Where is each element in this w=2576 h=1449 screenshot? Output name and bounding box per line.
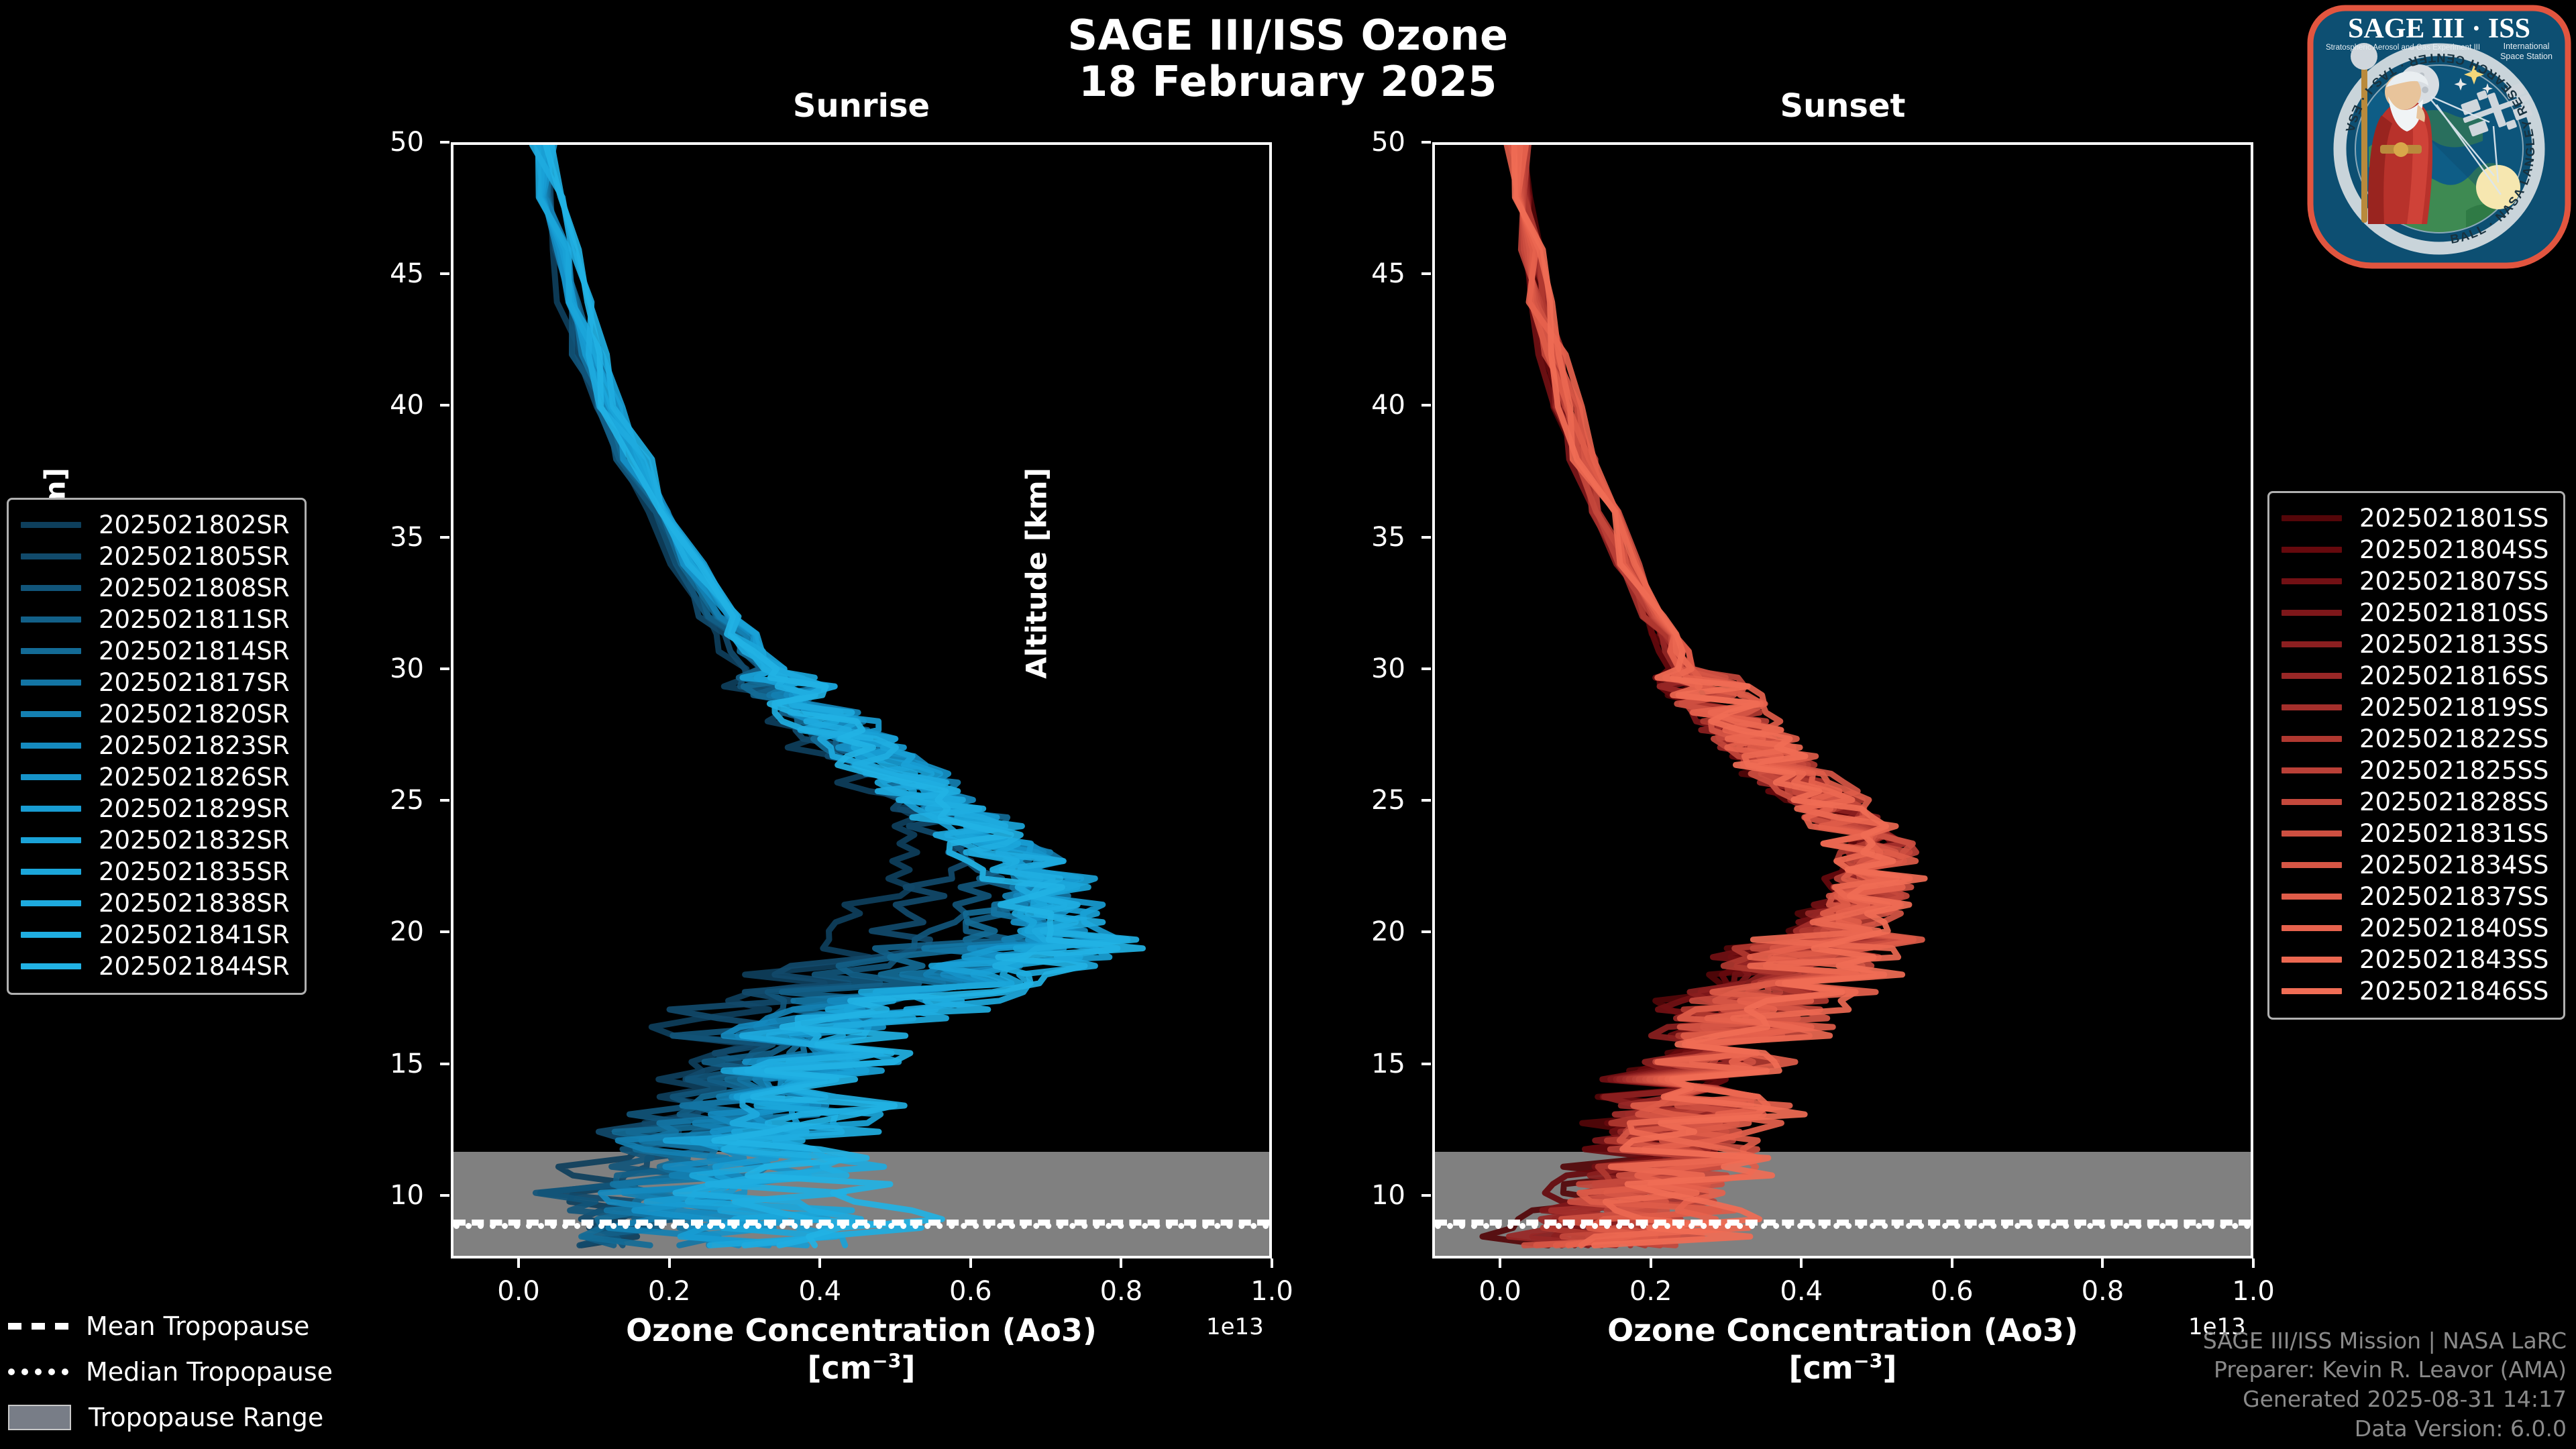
line-swatch-icon [2282, 578, 2342, 584]
legend-sunrise-label: 2025021838SR [99, 889, 290, 918]
legend-item-tropopause-range[interactable]: Tropopause Range [8, 1403, 333, 1432]
legend-item-median-tropopause[interactable]: Median Tropopause [8, 1357, 333, 1387]
line-swatch-icon [2282, 925, 2342, 931]
legend-sunrise-item[interactable]: 2025021832SR [21, 824, 290, 856]
line-swatch-icon [2282, 704, 2342, 710]
plot-sunrise [451, 142, 1272, 1258]
y-tick-label: 10 [343, 1180, 424, 1211]
logo-subtitle-left: Stratospheric Aerosol and Gas Experiment… [2326, 44, 2480, 52]
y-tick-mark [440, 141, 449, 144]
y-tick-mark [440, 667, 449, 670]
legend-sunset-label: 2025021810SS [2359, 598, 2548, 627]
x-tick-mark [1650, 1258, 1652, 1268]
logo-title: SAGE III · ISS [2348, 13, 2530, 44]
legend-sunset-item[interactable]: 2025021822SS [2282, 723, 2548, 755]
legend-sunset-label: 2025021837SS [2359, 882, 2548, 911]
legend-label-median-tropopause: Median Tropopause [86, 1357, 333, 1387]
x-tick-label: 0.2 [623, 1276, 716, 1307]
line-swatch-icon [21, 585, 81, 591]
line-swatch-icon [21, 680, 81, 686]
median-tropopause-line-left [453, 1223, 1269, 1229]
x-axis-label-sunrise: Ozone Concentration (Ao3) [cm−3] [451, 1311, 1272, 1387]
y-tick-label: 30 [1325, 653, 1405, 684]
x-tick-label: 0.4 [1754, 1276, 1848, 1307]
x-tick-mark [1800, 1258, 1803, 1268]
line-swatch-icon [2282, 673, 2342, 679]
x-tick-mark [1271, 1258, 1273, 1268]
logo-subtitle-right-2: Space Station [2500, 52, 2553, 61]
x-tick-label: 0.0 [472, 1276, 566, 1307]
legend-sunrise-label: 2025021811SR [99, 605, 290, 634]
credits-generated: Generated 2025-08-31 14:17 [2203, 1385, 2567, 1414]
legend-sunset-item[interactable]: 2025021819SS [2282, 692, 2548, 723]
legend-sunset-label: 2025021840SS [2359, 914, 2548, 943]
legend-sunset-item[interactable]: 2025021810SS [2282, 597, 2548, 629]
x-axis-label-line2: [cm−3] [1432, 1349, 2253, 1387]
line-swatch-icon [2282, 736, 2342, 742]
legend-sunset-item[interactable]: 2025021813SS [2282, 629, 2548, 660]
y-tick-label: 45 [343, 258, 424, 289]
legend-sunrise-label: 2025021841SR [99, 920, 290, 949]
x-tick-label: 0.2 [1604, 1276, 1698, 1307]
line-swatch-icon [21, 932, 81, 938]
y-tick-mark [440, 404, 449, 407]
legend-sunrise-item[interactable]: 2025021835SR [21, 856, 290, 888]
line-swatch-icon [21, 869, 81, 875]
legend-sunrise-label: 2025021802SR [99, 511, 290, 539]
y-axis-label-sunset: Altitude [km] [1020, 439, 1053, 708]
legend-sunrise-label: 2025021808SR [99, 574, 290, 602]
legend-sunset-label: 2025021816SS [2359, 661, 2548, 690]
legend-sunrise-item[interactable]: 2025021838SR [21, 888, 290, 919]
legend-sunrise-item[interactable]: 2025021802SR [21, 509, 290, 541]
legend-label-mean-tropopause: Mean Tropopause [86, 1311, 309, 1341]
line-swatch-icon [2282, 830, 2342, 837]
line-swatch-icon [21, 711, 81, 717]
line-swatch-icon [2282, 515, 2342, 521]
line-swatch-icon [21, 522, 81, 528]
y-tick-mark [440, 1063, 449, 1065]
y-tick-mark [1421, 930, 1431, 933]
x-axis-label-line1: Ozone Concentration (Ao3) [1432, 1311, 2253, 1349]
x-axis-label-line2: [cm−3] [451, 1349, 1272, 1387]
legend-sunrise-item[interactable]: 2025021811SR [21, 604, 290, 635]
legend-sunset-item[interactable]: 2025021846SS [2282, 975, 2548, 1007]
y-tick-mark [1421, 141, 1431, 144]
legend-sunset-label: 2025021801SS [2359, 504, 2548, 533]
legend-sunset-label: 2025021846SS [2359, 977, 2548, 1006]
panel-title-sunrise: Sunrise [451, 87, 1272, 125]
filled-patch-icon [8, 1405, 71, 1430]
dashed-line-icon [8, 1323, 68, 1330]
y-tick-mark [1421, 272, 1431, 275]
y-tick-label: 45 [1325, 258, 1405, 289]
y-tick-mark [1421, 799, 1431, 802]
x-tick-label: 1.0 [1225, 1276, 1319, 1307]
line-swatch-icon [21, 648, 81, 654]
y-tick-mark [440, 799, 449, 802]
legend-sunset-item[interactable]: 2025021834SS [2282, 849, 2548, 881]
legend-sunrise-item[interactable]: 2025021805SR [21, 541, 290, 572]
legend-sunrise-label: 2025021823SR [99, 731, 290, 760]
x-tick-label: 0.8 [2055, 1276, 2149, 1307]
x-axis-label-sunset: Ozone Concentration (Ao3) [cm−3] [1432, 1311, 2253, 1387]
y-tick-label: 40 [1325, 390, 1405, 421]
legend-sunrise-item[interactable]: 2025021820SR [21, 698, 290, 730]
credits-data-version: Data Version: 6.0.0 [2203, 1414, 2567, 1444]
legend-sunrise-label: 2025021844SR [99, 952, 290, 981]
legend-sunset-label: 2025021834SS [2359, 851, 2548, 879]
line-swatch-icon [2282, 988, 2342, 994]
line-swatch-icon [21, 837, 81, 843]
legend-sunrise-item[interactable]: 2025021814SR [21, 635, 290, 667]
y-tick-label: 25 [343, 785, 424, 816]
legend-sunrise[interactable]: 2025021802SR2025021805SR2025021808SR2025… [7, 498, 307, 995]
line-swatch-icon [2282, 799, 2342, 805]
line-swatch-icon [2282, 862, 2342, 868]
credits-preparer: Preparer: Kevin R. Leavor (AMA) [2203, 1355, 2567, 1385]
legend-sunrise-item[interactable]: 2025021844SR [21, 951, 290, 982]
y-tick-label: 40 [343, 390, 424, 421]
legend-sunrise-label: 2025021820SR [99, 700, 290, 729]
x-tick-mark [818, 1258, 821, 1268]
sage-iii-iss-logo: BALL · NASA LANGLEY RESEARCH CENTER · TA… [2305, 3, 2573, 271]
median-tropopause-line-right [1435, 1223, 2251, 1229]
y-tick-label: 35 [343, 522, 424, 553]
y-tick-mark [1421, 404, 1431, 407]
x-axis-offset-sunrise: 1e13 [1206, 1313, 1264, 1340]
line-swatch-icon [2282, 894, 2342, 900]
legend-label-tropopause-range: Tropopause Range [89, 1403, 323, 1432]
line-swatch-icon [2282, 610, 2342, 616]
dotted-line-icon [8, 1368, 68, 1375]
ozone-profile-line [546, 145, 1143, 1245]
line-swatch-icon [21, 900, 81, 906]
line-swatch-icon [2282, 957, 2342, 963]
ozone-curves-sunset [1435, 145, 2251, 1256]
legend-sunrise-label: 2025021832SR [99, 826, 290, 855]
legend-sunset-label: 2025021819SS [2359, 693, 2548, 722]
x-tick-label: 0.8 [1074, 1276, 1168, 1307]
legend-item-mean-tropopause[interactable]: Mean Tropopause [8, 1311, 333, 1341]
y-tick-mark [1421, 667, 1431, 670]
mission-patch-icon: BALL · NASA LANGLEY RESEARCH CENTER · TA… [2305, 3, 2573, 271]
y-tick-mark [1421, 1194, 1431, 1197]
y-tick-mark [440, 930, 449, 933]
y-tick-label: 25 [1325, 785, 1405, 816]
credits-mission: SAGE III/ISS Mission | NASA LaRC [2203, 1326, 2567, 1356]
x-tick-mark [2252, 1258, 2255, 1268]
title-line-1: SAGE III/ISS Ozone [0, 12, 2576, 58]
credits-block: SAGE III/ISS Mission | NASA LaRC Prepare… [2203, 1326, 2567, 1444]
legend-sunset-item[interactable]: 2025021801SS [2282, 502, 2548, 534]
y-tick-label: 35 [1325, 522, 1405, 553]
line-swatch-icon [21, 774, 81, 780]
y-tick-label: 50 [343, 127, 424, 158]
x-tick-label: 0.6 [1905, 1276, 1999, 1307]
legend-sunset-item[interactable]: 2025021825SS [2282, 755, 2548, 786]
y-tick-label: 15 [343, 1049, 424, 1079]
x-tick-label: 0.4 [773, 1276, 867, 1307]
y-tick-label: 50 [1325, 127, 1405, 158]
legend-sunrise-item[interactable]: 2025021841SR [21, 919, 290, 951]
y-tick-label: 20 [343, 916, 424, 947]
line-swatch-icon [21, 553, 81, 559]
legend-sunset-label: 2025021828SS [2359, 788, 2548, 816]
x-tick-label: 0.0 [1453, 1276, 1547, 1307]
y-tick-mark [440, 1194, 449, 1197]
y-tick-mark [1421, 1063, 1431, 1065]
legend-sunrise-label: 2025021805SR [99, 542, 290, 571]
y-tick-label: 20 [1325, 916, 1405, 947]
legend-sunset-item[interactable]: 2025021807SS [2282, 566, 2548, 597]
x-axis-label-line1: Ozone Concentration (Ao3) [451, 1311, 1272, 1349]
legend-sunrise-item[interactable]: 2025021829SR [21, 793, 290, 824]
legend-sunset-item[interactable]: 2025021831SS [2282, 818, 2548, 849]
legend-sunset-label: 2025021807SS [2359, 567, 2548, 596]
legend-sunset-item[interactable]: 2025021840SS [2282, 912, 2548, 944]
panel-title-sunset: Sunset [1432, 87, 2253, 125]
legend-sunset[interactable]: 2025021801SS2025021804SS2025021807SS2025… [2267, 491, 2565, 1020]
plot-sunset [1432, 142, 2253, 1258]
legend-sunrise-label: 2025021826SR [99, 763, 290, 792]
legend-sunset-label: 2025021825SS [2359, 756, 2548, 785]
legend-sunrise-item[interactable]: 2025021817SR [21, 667, 290, 698]
legend-sunrise-item[interactable]: 2025021808SR [21, 572, 290, 604]
y-tick-mark [440, 536, 449, 539]
ozone-curves-sunrise [453, 145, 1269, 1256]
x-tick-mark [668, 1258, 671, 1268]
line-swatch-icon [2282, 641, 2342, 647]
x-tick-label: 1.0 [2206, 1276, 2300, 1307]
legend-sunset-item[interactable]: 2025021816SS [2282, 660, 2548, 692]
y-tick-label: 30 [343, 653, 424, 684]
legend-sunrise-item[interactable]: 2025021823SR [21, 730, 290, 761]
x-tick-mark [517, 1258, 520, 1268]
legend-sunset-label: 2025021831SS [2359, 819, 2548, 848]
line-swatch-icon [2282, 547, 2342, 553]
legend-tropopause[interactable]: Mean Tropopause Median Tropopause Tropop… [8, 1311, 333, 1432]
legend-sunset-item[interactable]: 2025021804SS [2282, 534, 2548, 566]
x-tick-mark [1120, 1258, 1122, 1268]
legend-sunset-item[interactable]: 2025021843SS [2282, 944, 2548, 975]
x-tick-label: 0.6 [924, 1276, 1018, 1307]
legend-sunset-item[interactable]: 2025021828SS [2282, 786, 2548, 818]
y-tick-label: 10 [1325, 1180, 1405, 1211]
legend-sunset-item[interactable]: 2025021837SS [2282, 881, 2548, 912]
legend-sunrise-label: 2025021817SR [99, 668, 290, 697]
x-tick-mark [969, 1258, 972, 1268]
logo-subtitle-right-1: International [2504, 42, 2550, 51]
y-tick-label: 15 [1325, 1049, 1405, 1079]
x-tick-mark [1951, 1258, 1953, 1268]
line-swatch-icon [2282, 767, 2342, 773]
line-swatch-icon [21, 743, 81, 749]
legend-sunset-label: 2025021843SS [2359, 945, 2548, 974]
line-swatch-icon [21, 616, 81, 623]
legend-sunrise-label: 2025021829SR [99, 794, 290, 823]
legend-sunset-label: 2025021804SS [2359, 535, 2548, 564]
x-tick-mark [1499, 1258, 1501, 1268]
line-swatch-icon [21, 963, 81, 969]
legend-sunrise-label: 2025021835SR [99, 857, 290, 886]
y-tick-mark [440, 272, 449, 275]
legend-sunset-label: 2025021813SS [2359, 630, 2548, 659]
legend-sunset-label: 2025021822SS [2359, 724, 2548, 753]
y-tick-mark [1421, 536, 1431, 539]
legend-sunrise-label: 2025021814SR [99, 637, 290, 665]
legend-sunrise-item[interactable]: 2025021826SR [21, 761, 290, 793]
x-tick-mark [2101, 1258, 2104, 1268]
line-swatch-icon [21, 806, 81, 812]
